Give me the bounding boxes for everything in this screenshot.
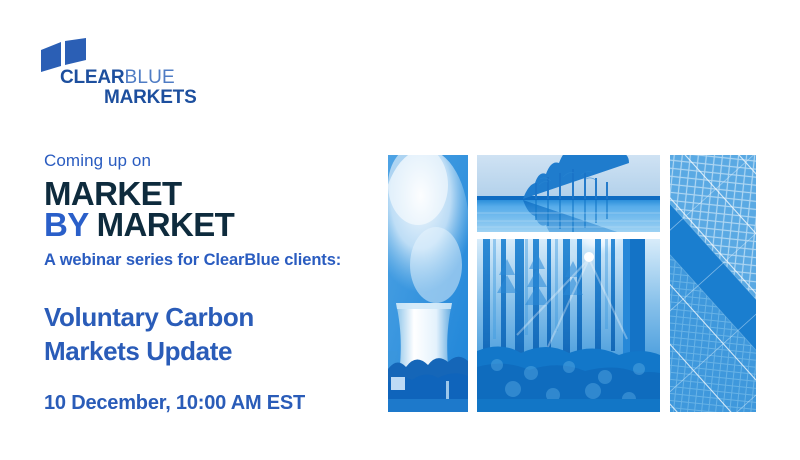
event-details-block: Voluntary Carbon Markets Update 10 Decem… — [44, 300, 384, 416]
logo-word-clear: CLEAR — [60, 67, 124, 88]
logo-word-markets: MARKETS — [104, 87, 197, 108]
kicker-text: Coming up on — [44, 150, 374, 172]
sunlit-forest-image — [477, 239, 660, 412]
webinar-promo-banner: CLEARBLUE MARKETS Coming up on MARKET BY… — [0, 0, 800, 460]
series-title-by: BY — [44, 206, 88, 243]
series-subtitle: A webinar series for ClearBlue clients: — [44, 249, 374, 271]
series-copy-block: Coming up on MARKET BY MARKET A webinar … — [44, 150, 374, 271]
event-title-line1: Voluntary Carbon — [44, 300, 384, 334]
event-title-line2: Markets Update — [44, 334, 384, 368]
image-collage — [388, 155, 756, 412]
clearblue-wordmark: CLEARBLUE MARKETS — [60, 68, 260, 108]
series-title-line2: BY MARKET — [44, 209, 374, 240]
series-title-line1: MARKET — [44, 178, 374, 209]
series-title: MARKET BY MARKET — [44, 178, 374, 240]
cooling-tower-image — [388, 155, 468, 412]
solar-panels-image — [670, 155, 756, 412]
series-title-market: MARKET — [97, 206, 235, 243]
event-title: Voluntary Carbon Markets Update — [44, 300, 384, 368]
event-datetime: 10 December, 10:00 AM EST — [44, 390, 384, 416]
lake-island-image — [477, 155, 660, 232]
logo-word-blue: BLUE — [124, 67, 174, 88]
clearblue-logo[interactable]: CLEARBLUE MARKETS — [38, 38, 258, 100]
